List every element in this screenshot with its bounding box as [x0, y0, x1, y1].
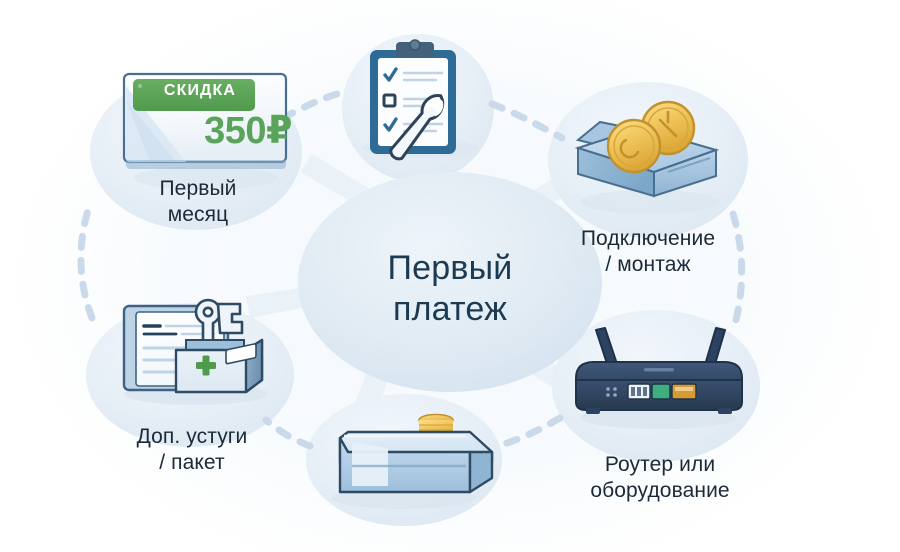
- center-label: Первый платеж: [315, 248, 585, 331]
- discount-badge-label: СКИДКА: [140, 82, 260, 100]
- dash-extras-to-first-month: [81, 210, 92, 318]
- port-orange: [672, 384, 696, 399]
- port-green: [652, 384, 670, 399]
- dash-deposit-to-extras: [266, 420, 310, 446]
- discount-price-label: 350₽: [170, 108, 292, 153]
- dash-first-month-to-checklist: [283, 92, 344, 118]
- dash-connection-to-router: [733, 214, 742, 320]
- infographic-canvas: СКИДКА 350₽ Первый платеж Первый месяц П…: [0, 0, 900, 552]
- dash-router-to-deposit: [498, 418, 560, 446]
- dash-checklist-to-connection: [492, 104, 562, 138]
